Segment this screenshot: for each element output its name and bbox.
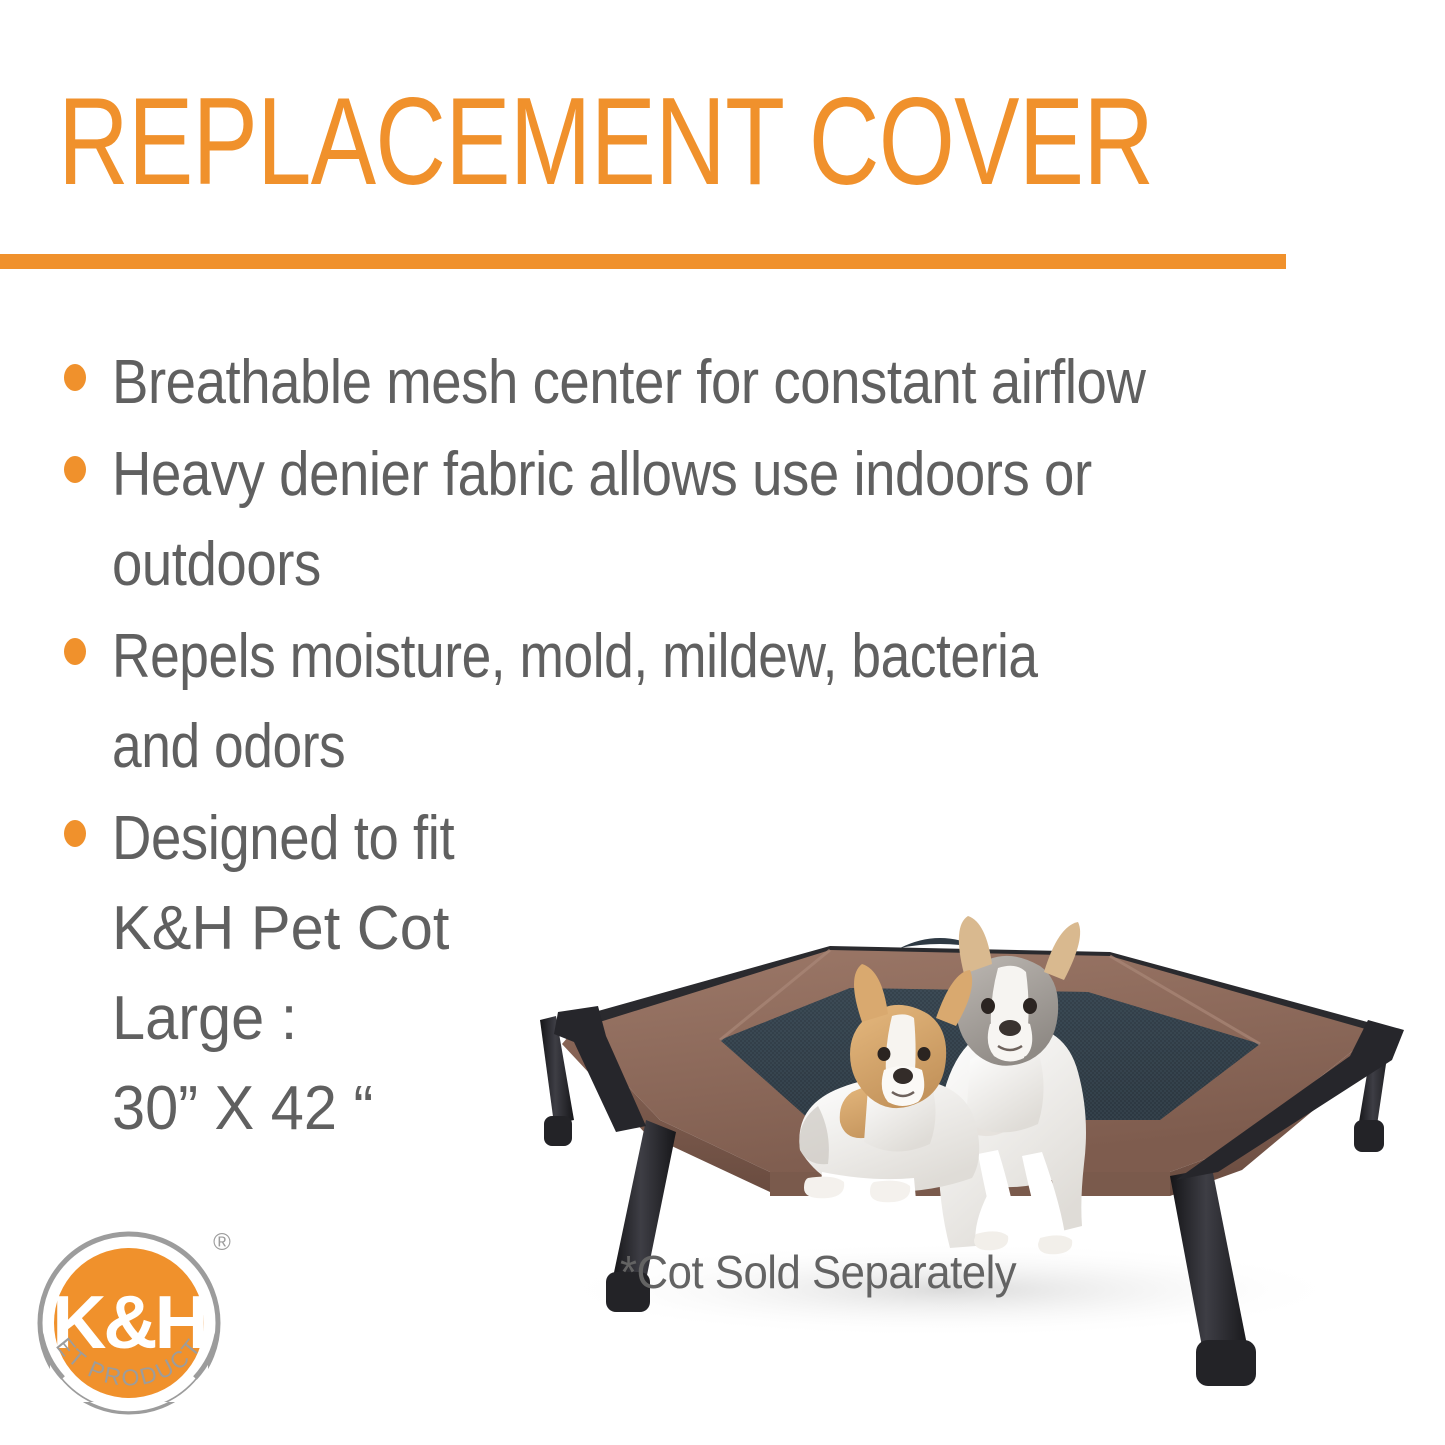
dog-back-ear-left [959,916,992,974]
registered-mark-icon: ® [213,1229,231,1256]
list-item: Heavy denier fabric allows use indoors o… [58,430,1438,610]
page-title: REPLACEMENT COVER [58,86,1053,198]
feature-text: Heavy denier fabric allows use indoors o… [112,430,1279,610]
feature-text: Repels moisture, mold, mildew, bacteria … [112,612,1252,792]
product-infographic: REPLACEMENT COVER Breathable mesh center… [0,0,1445,1445]
dog-back-eye-left [981,998,995,1014]
bullet-dot-icon [64,638,86,665]
title-divider-bar [0,254,1286,269]
bullet-dot-icon [64,364,86,391]
feature-text: Breathable mesh center for constant airf… [112,338,1279,428]
photo-caption: *Cot Sold Separately [620,1245,1016,1299]
dog-back-eye-right [1023,998,1037,1014]
dog-front-eye-right [918,1047,931,1061]
dog-front-paw-left [804,1177,844,1199]
brand-logo: K&H ® PET PRODUCTS [28,1222,253,1437]
dog-front-paw-right [870,1181,910,1203]
dog-front-eye-left [878,1047,891,1061]
list-item: Repels moisture, mold, mildew, bacteria … [58,612,1438,792]
bullet-dot-icon [64,820,86,847]
list-item: Breathable mesh center for constant airf… [58,338,1438,428]
product-photo [470,820,1445,1390]
dog-back-nose [999,1020,1021,1036]
bullet-dot-icon [64,456,86,483]
dog-front-nose [893,1068,913,1084]
